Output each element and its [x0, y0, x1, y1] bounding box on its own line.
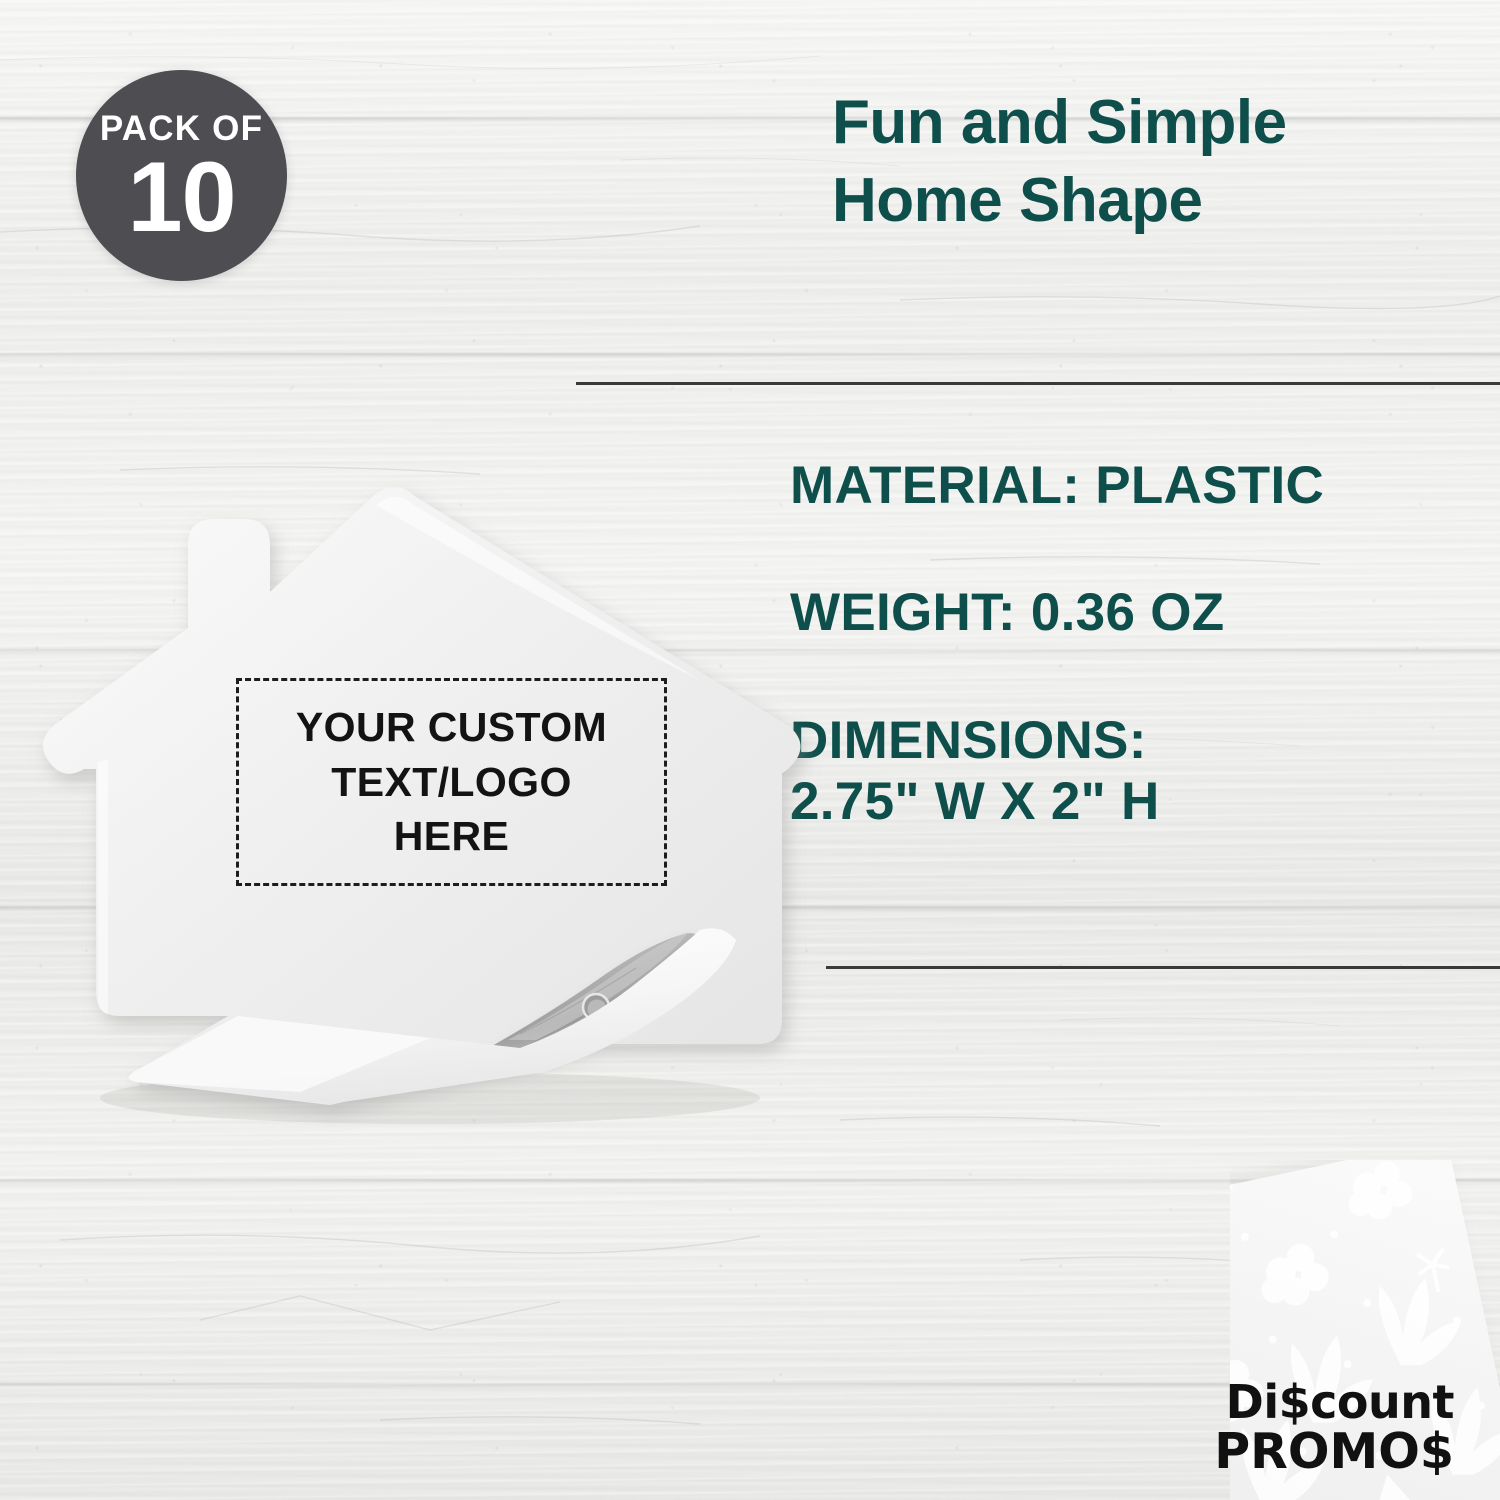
page-title: Fun and Simple Home Shape [832, 84, 1472, 240]
spec-dimensions-value: 2.75" W X 2" H [790, 771, 1490, 832]
imprint-line-3: HERE [394, 809, 510, 864]
brand-logo: Di$count PROMO$ [1214, 1379, 1454, 1478]
imprint-area: YOUR CUSTOM TEXT/LOGO HERE [236, 678, 667, 886]
spec-weight: WEIGHT: 0.36 OZ [790, 582, 1490, 643]
brand-logo-line-1: Di$count [1214, 1379, 1454, 1427]
badge-quantity-value: 10 [127, 150, 235, 244]
spec-dimensions-label: DIMENSIONS: [790, 710, 1490, 771]
imprint-line-1: YOUR CUSTOM [296, 700, 607, 755]
spec-material-text: MATERIAL: PLASTIC [790, 455, 1490, 516]
spec-weight-text: WEIGHT: 0.36 OZ [790, 582, 1490, 643]
headline-line-2: Home Shape [832, 162, 1472, 240]
spec-material: MATERIAL: PLASTIC [790, 455, 1490, 516]
divider-bottom [826, 966, 1500, 969]
specifications-list: MATERIAL: PLASTIC WEIGHT: 0.36 OZ DIMENS… [790, 455, 1490, 833]
brand-logo-line-2: PROMO$ [1214, 1427, 1454, 1478]
pack-quantity-badge: PACK OF 10 [76, 70, 287, 281]
spec-dimensions: DIMENSIONS: 2.75" W X 2" H [790, 710, 1490, 833]
headline-line-1: Fun and Simple [832, 84, 1472, 162]
divider-top [576, 382, 1500, 385]
product-marketing-image: PACK OF 10 Fun and Simple Home Shape MAT… [0, 0, 1500, 1500]
imprint-line-2: TEXT/LOGO [331, 755, 572, 810]
